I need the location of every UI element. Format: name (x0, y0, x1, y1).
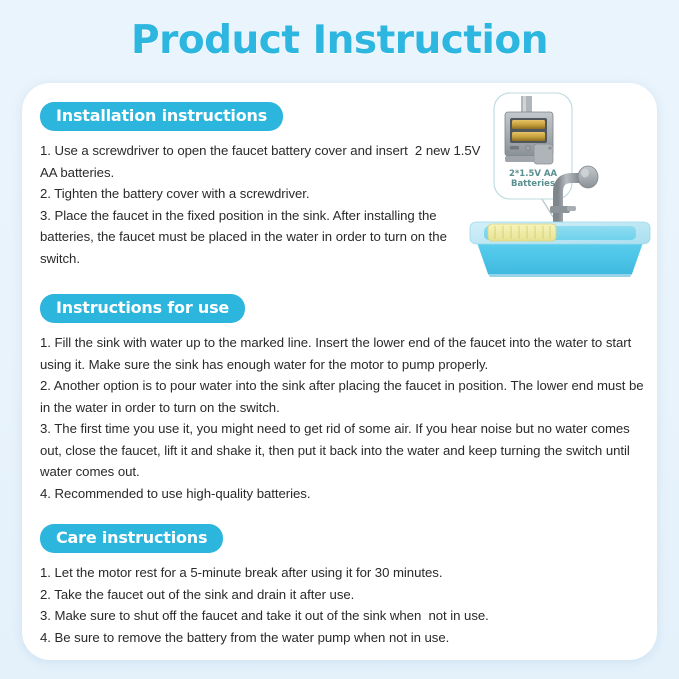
section-installation-instructions: Installation instructions 1. Use a screw… (40, 102, 488, 269)
sink-illustration (470, 222, 650, 277)
page-title: Product Instruction (0, 18, 679, 63)
section-body-care: 1. Let the motor rest for a 5-minute bre… (40, 562, 644, 648)
section-body-installation: 1. Use a screwdriver to open the faucet … (40, 140, 488, 269)
product-illustration: 2*1.5V AA Batteries (462, 88, 657, 278)
section-body-use: 1. Fill the sink with water up to the ma… (40, 332, 644, 504)
section-instructions-for-use: Instructions for use 1. Fill the sink wi… (40, 294, 644, 504)
section-care-instructions: Care instructions 1. Let the motor rest … (40, 524, 644, 648)
callout-label-line2: Batteries (511, 179, 555, 189)
instruction-card: Installation instructions 1. Use a screw… (22, 83, 657, 660)
section-heading-installation: Installation instructions (40, 102, 283, 131)
section-heading-use: Instructions for use (40, 294, 245, 323)
section-heading-care: Care instructions (40, 524, 223, 553)
callout-label-line1: 2*1.5V AA (509, 169, 558, 179)
page-root: Product Instruction Installation instruc… (0, 0, 679, 679)
